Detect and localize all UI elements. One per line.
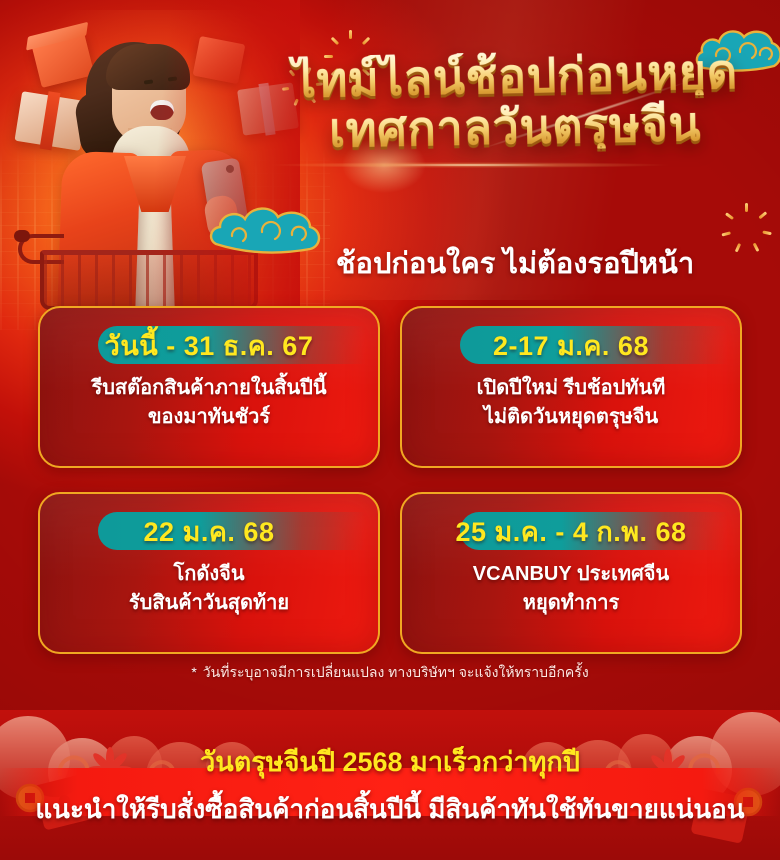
date-badge-label: วันนี้ - 31 ธ.ค. 67 xyxy=(105,324,314,367)
card-body: VCANBUY ประเทศจีน หยุดทำการ xyxy=(414,560,728,618)
headline-line-2: เทศกาลวันตรุษจีน xyxy=(250,98,780,154)
card-line-2: ของมาทันชัวร์ xyxy=(52,403,366,432)
card-line-2: ไม่ติดวันหยุดตรุษจีน xyxy=(414,403,728,432)
bottom-line-1: วันตรุษจีนปี 2568 มาเร็วกว่าทุกปี xyxy=(200,740,580,783)
date-badge: 22 ม.ค. 68 xyxy=(98,512,366,550)
firework-sparkle-icon xyxy=(348,42,350,44)
timeline-card: 22 ม.ค. 68 โกดังจีน รับสินค้าวันสุดท้าย xyxy=(38,492,380,654)
bottom-text-block: วันตรุษจีนปี 2568 มาเร็วกว่าทุกปี แนะนำใ… xyxy=(0,710,780,860)
footnote-text: วันที่ระบุอาจมีการเปลี่ยนแปลง ทางบริษัทฯ… xyxy=(203,664,589,680)
card-line-1: โกดังจีน xyxy=(52,560,366,589)
bottom-line-2: แนะนำให้รีบสั่งซื้อสินค้าก่อนสิ้นปีนี้ ม… xyxy=(35,789,744,830)
card-body: รีบสต๊อกสินค้าภายในสิ้นปีนี้ ของมาทันชัว… xyxy=(52,374,366,432)
date-badge-label: 22 ม.ค. 68 xyxy=(144,510,275,553)
bottom-banner: วันตรุษจีนปี 2568 มาเร็วกว่าทุกปี แนะนำใ… xyxy=(0,710,780,860)
card-line-1: รีบสต๊อกสินค้าภายในสิ้นปีนี้ xyxy=(52,374,366,403)
date-badge: 25 ม.ค. - 4 ก.พ. 68 xyxy=(460,512,728,550)
timeline-card: วันนี้ - 31 ธ.ค. 67 รีบสต๊อกสินค้าภายในส… xyxy=(38,306,380,468)
card-line-2: รับสินค้าวันสุดท้าย xyxy=(52,589,366,618)
subheadline: ช้อปก่อนใคร ไม่ต้องรอปีหน้า xyxy=(250,240,780,286)
card-line-2: หยุดทำการ xyxy=(414,589,728,618)
footnote-marker: * xyxy=(191,664,196,680)
card-body: โกดังจีน รับสินค้าวันสุดท้าย xyxy=(52,560,366,618)
timeline-card: 25 ม.ค. - 4 ก.พ. 68 VCANBUY ประเทศจีน หย… xyxy=(400,492,742,654)
date-badge: 2-17 ม.ค. 68 xyxy=(460,326,728,364)
card-line-1: เปิดปีใหม่ รีบช้อปทันที xyxy=(414,374,728,403)
date-badge-label: 2-17 ม.ค. 68 xyxy=(493,324,649,367)
firework-sparkle-icon xyxy=(744,214,746,216)
card-line-1: VCANBUY ประเทศจีน xyxy=(414,560,728,589)
timeline-card-grid: วันนี้ - 31 ธ.ค. 67 รีบสต๊อกสินค้าภายในส… xyxy=(38,306,742,654)
headline: ไทม์ไลน์ช้อปก่อนหยุด เทศกาลวันตรุษจีน xyxy=(250,52,780,202)
footnote: *วันที่ระบุอาจมีการเปลี่ยนแปลง ทางบริษัท… xyxy=(0,662,780,684)
promo-banner: ไทม์ไลน์ช้อปก่อนหยุด เทศกาลวันตรุษจีน ช้… xyxy=(0,0,780,860)
timeline-card: 2-17 ม.ค. 68 เปิดปีใหม่ รีบช้อปทันที ไม่… xyxy=(400,306,742,468)
card-body: เปิดปีใหม่ รีบช้อปทันที ไม่ติดวันหยุดตรุ… xyxy=(414,374,728,432)
date-badge-label: 25 ม.ค. - 4 ก.พ. 68 xyxy=(455,510,686,553)
date-badge: วันนี้ - 31 ธ.ค. 67 xyxy=(98,326,366,364)
